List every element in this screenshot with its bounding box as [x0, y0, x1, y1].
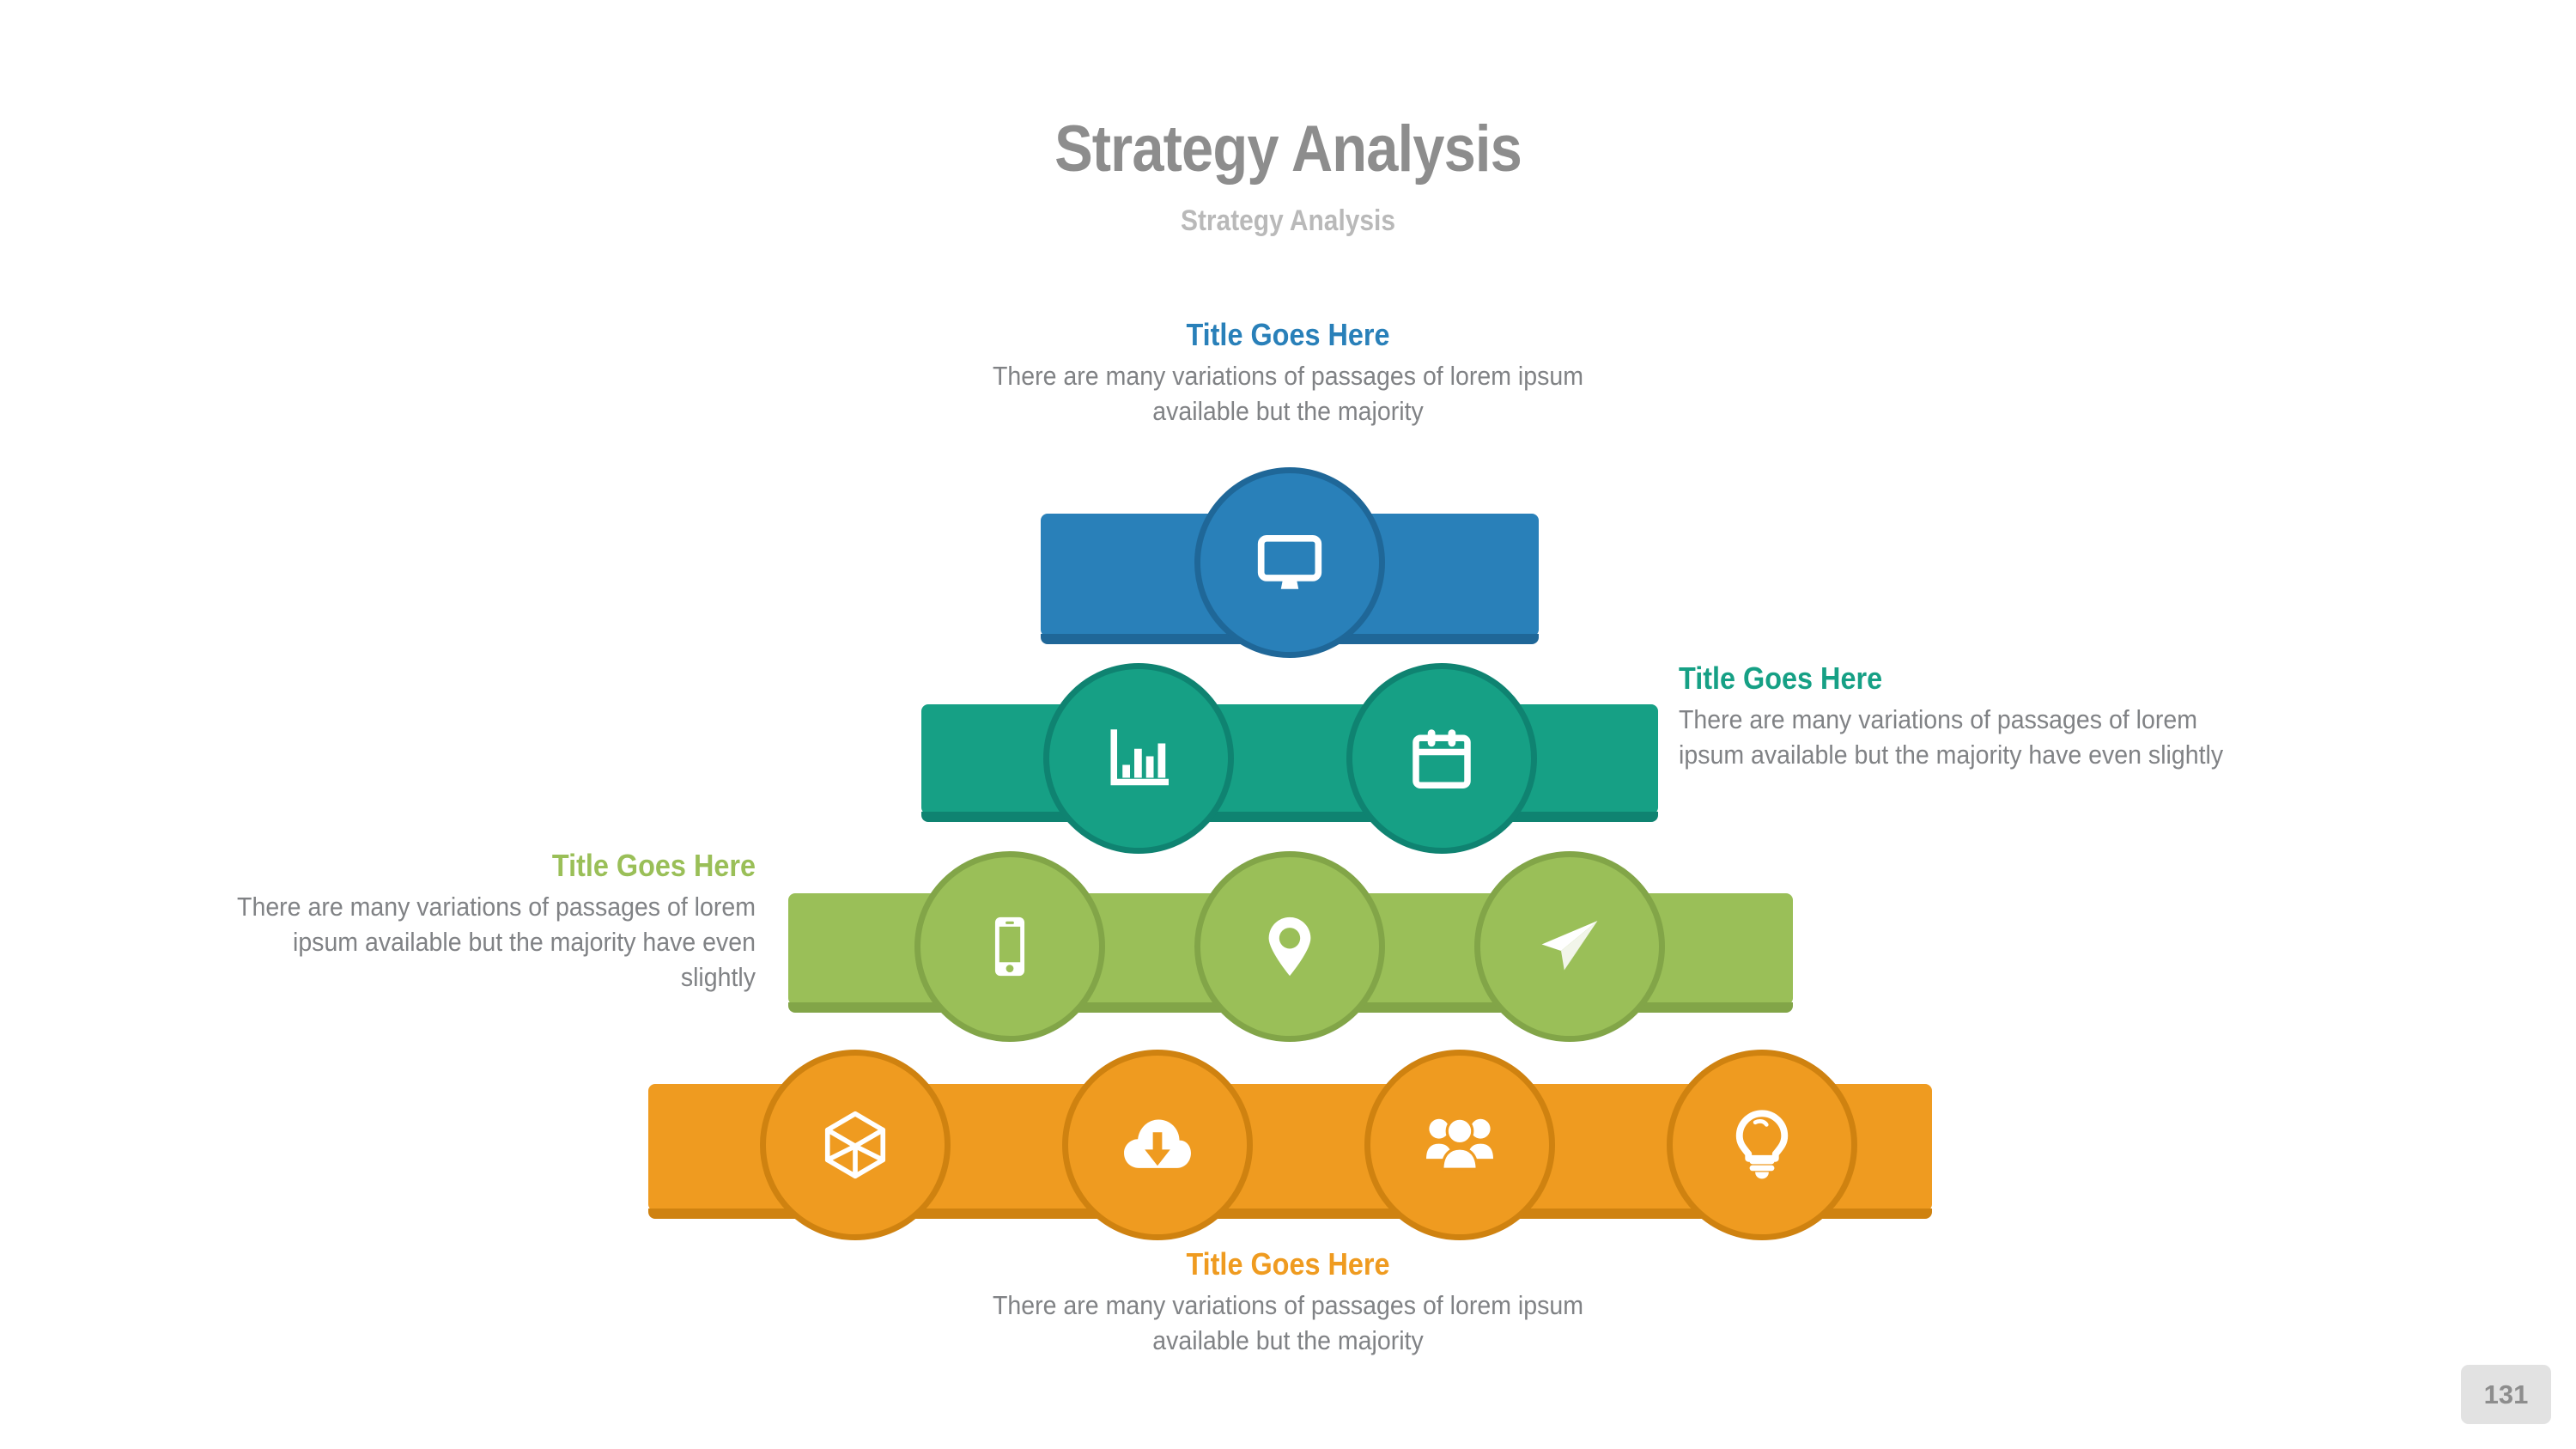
- lightbulb-icon: [1726, 1109, 1798, 1181]
- slide-canvas: Strategy Analysis Strategy Analysis Titl…: [0, 0, 2576, 1449]
- caption-title-blue: Title Goes Here: [902, 318, 1674, 352]
- level-bar-teal[interactable]: [921, 704, 1658, 814]
- bar-chart-icon: [1104, 724, 1173, 793]
- monitor-icon: [1255, 527, 1325, 598]
- caption-orange: Title Goes Here There are many variation…: [859, 1247, 1717, 1359]
- caption-title-orange: Title Goes Here: [902, 1247, 1674, 1282]
- caption-body-orange: There are many variations of passages of…: [976, 1288, 1601, 1359]
- node-monitor[interactable]: [1194, 467, 1385, 658]
- paper-plane-icon: [1535, 912, 1604, 981]
- cloud-download-icon: [1121, 1108, 1194, 1182]
- smartphone-icon: [976, 913, 1043, 980]
- caption-teal: Title Goes Here There are many variation…: [1679, 661, 2348, 773]
- caption-green: Title Goes Here There are many variation…: [103, 849, 756, 995]
- caption-body-blue: There are many variations of passages of…: [976, 359, 1601, 429]
- node-users-group[interactable]: [1364, 1050, 1555, 1240]
- caption-blue: Title Goes Here There are many variation…: [859, 318, 1717, 429]
- calendar-icon: [1407, 724, 1476, 793]
- caption-title-teal: Title Goes Here: [1679, 661, 2281, 696]
- node-cloud-download[interactable]: [1062, 1050, 1253, 1240]
- caption-body-teal: There are many variations of passages of…: [1679, 703, 2224, 773]
- node-bar-chart[interactable]: [1043, 663, 1234, 854]
- node-cube[interactable]: [760, 1050, 951, 1240]
- pyramid-diagram: Title Goes Here There are many variation…: [0, 0, 2576, 1449]
- map-pin-icon: [1256, 913, 1323, 980]
- cube-wireframe-icon: [818, 1108, 892, 1182]
- page-number-label: 131: [2484, 1379, 2529, 1410]
- node-lightbulb[interactable]: [1667, 1050, 1857, 1240]
- users-group-icon: [1423, 1108, 1497, 1182]
- caption-title-green: Title Goes Here: [168, 849, 756, 883]
- node-paper-plane[interactable]: [1474, 851, 1665, 1042]
- node-map-pin[interactable]: [1194, 851, 1385, 1042]
- page-number-badge: 131: [2461, 1365, 2551, 1424]
- node-calendar[interactable]: [1346, 663, 1537, 854]
- node-smartphone[interactable]: [914, 851, 1105, 1042]
- caption-body-green: There are many variations of passages of…: [218, 890, 756, 995]
- bar-shadow-teal: [921, 812, 1658, 822]
